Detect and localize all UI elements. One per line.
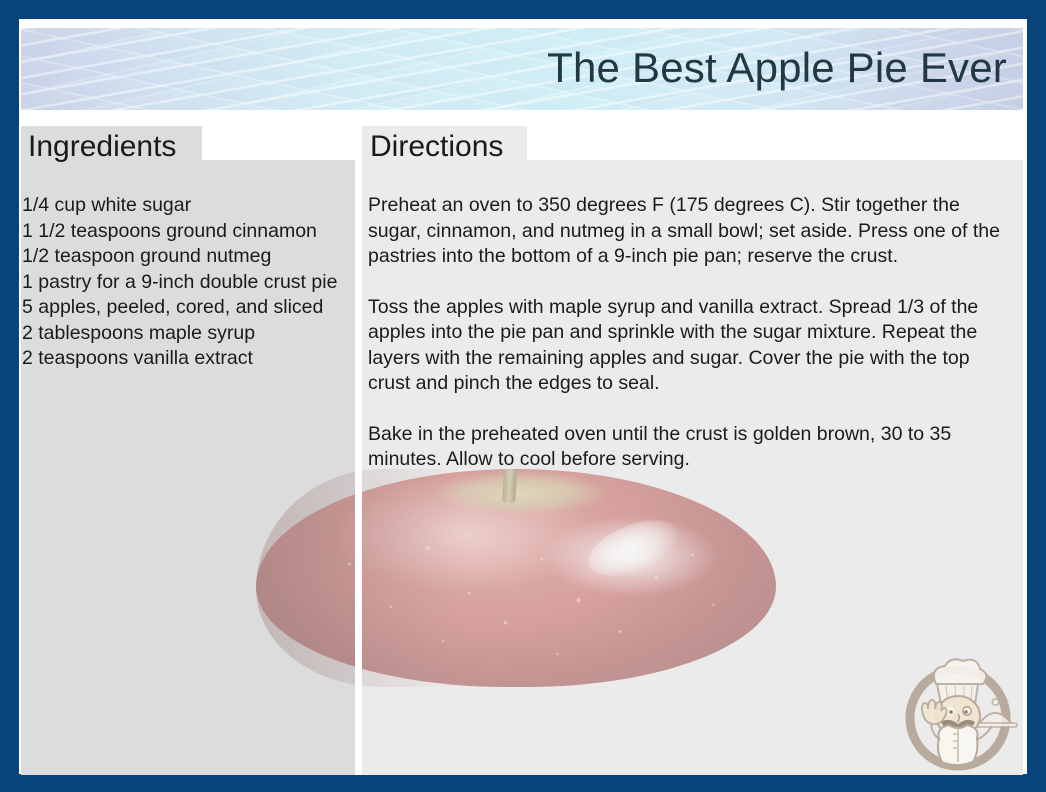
panel-gutter xyxy=(355,160,362,775)
directions-paragraph: Bake in the preheated oven until the cru… xyxy=(368,422,1016,473)
list-item: 5 apples, peeled, cored, and sliced xyxy=(22,295,354,321)
list-item: 1 1/2 teaspoons ground cinnamon xyxy=(22,219,354,245)
directions-text: Preheat an oven to 350 degrees F (175 de… xyxy=(368,193,1016,473)
list-item: 1/4 cup white sugar xyxy=(22,193,354,219)
directions-heading-label: Directions xyxy=(370,132,503,162)
frame-border-top xyxy=(0,0,1046,19)
frame-border-left xyxy=(0,0,19,792)
frame-border-bottom xyxy=(0,774,1046,792)
chef-logo-icon xyxy=(896,652,1020,774)
ingredients-list: 1/4 cup white sugar 1 1/2 teaspoons grou… xyxy=(22,193,354,372)
list-item: 2 teaspoons vanilla extract xyxy=(22,346,354,372)
title-banner: The Best Apple Pie Ever xyxy=(21,28,1023,110)
ingredients-heading-label: Ingredients xyxy=(28,132,176,162)
slide-title: The Best Apple Pie Ever xyxy=(547,47,1007,89)
recipe-slide: The Best Apple Pie Ever Ingredients Dire… xyxy=(0,0,1046,792)
directions-paragraph: Toss the apples with maple syrup and van… xyxy=(368,295,1016,397)
ingredients-heading: Ingredients xyxy=(21,126,202,168)
directions-heading: Directions xyxy=(362,126,527,168)
frame-border-right xyxy=(1027,0,1046,792)
list-item: 1 pastry for a 9-inch double crust pie xyxy=(22,270,354,296)
list-item: 2 tablespoons maple syrup xyxy=(22,321,354,347)
directions-paragraph: Preheat an oven to 350 degrees F (175 de… xyxy=(368,193,1016,270)
list-item: 1/2 teaspoon ground nutmeg xyxy=(22,244,354,270)
